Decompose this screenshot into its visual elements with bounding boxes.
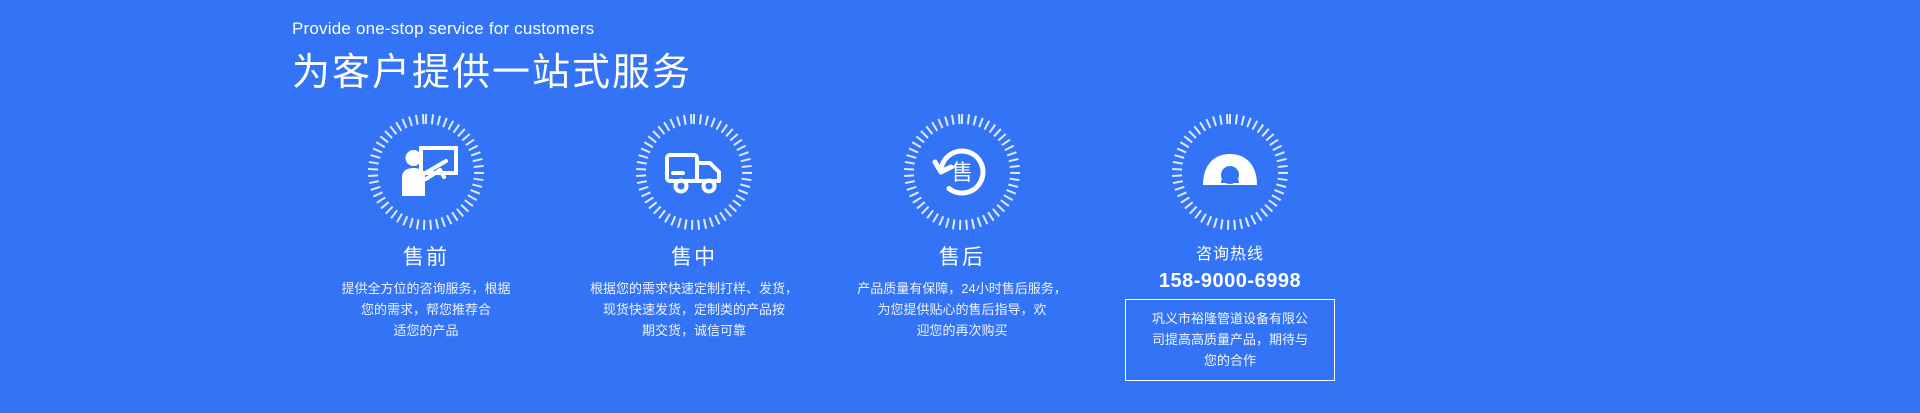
icon-container: 售 — [902, 112, 1022, 232]
column-title: 售中 — [671, 244, 717, 272]
hotline-label: 咨询热线 — [1196, 244, 1264, 266]
company-line: 您的合作 — [1140, 350, 1320, 371]
hotline-number[interactable]: 158-9000-6998 — [1159, 268, 1301, 294]
service-column-insale[interactable]: 售中 根据您的需求快速定制打样、发货， 现货快速发货，定制类的产品按 期交货，诚… — [560, 112, 828, 381]
service-column-hotline[interactable]: 咨询热线 158-9000-6998 巩义市裕隆管道设备有限公 司提高高质量产品… — [1096, 112, 1364, 381]
desc-line: 根据您的需求快速定制打样、发货， — [590, 278, 798, 299]
telephone-icon — [1197, 139, 1263, 205]
service-banner: Provide one-stop service for customers 为… — [0, 0, 1920, 413]
service-column-aftersale[interactable]: 售 售后 产品质量有保障，24小时售后服务， 为您提供贴心的售后指导，欢 迎您的… — [828, 112, 1096, 381]
desc-line: 适您的产品 — [341, 320, 510, 341]
heading-english: Provide one-stop service for customers — [292, 16, 1192, 42]
company-info-box: 巩义市裕隆管道设备有限公 司提高高质量产品，期待与 您的合作 — [1125, 299, 1335, 381]
desc-line: 迎您的再次购买 — [857, 320, 1066, 341]
service-columns: 售前 提供全方位的咨询服务，根据 您的需求，帮您推荐合 适您的产品 — [292, 112, 1632, 381]
presenter-whiteboard-icon — [393, 139, 459, 205]
desc-line: 产品质量有保障，24小时售后服务， — [857, 278, 1066, 299]
icon-container — [366, 112, 486, 232]
desc-line: 提供全方位的咨询服务，根据 — [341, 278, 510, 299]
banner-heading: Provide one-stop service for customers 为… — [292, 16, 1192, 98]
column-description: 提供全方位的咨询服务，根据 您的需求，帮您推荐合 适您的产品 — [341, 278, 510, 341]
desc-line: 现货快速发货，定制类的产品按 — [590, 299, 798, 320]
column-description: 产品质量有保障，24小时售后服务， 为您提供贴心的售后指导，欢 迎您的再次购买 — [857, 278, 1066, 341]
desc-line: 您的需求，帮您推荐合 — [341, 299, 510, 320]
icon-container — [634, 112, 754, 232]
column-title: 售前 — [403, 244, 449, 272]
heading-chinese: 为客户提供一站式服务 — [292, 48, 1192, 98]
after-sale-refresh-icon: 售 — [929, 139, 995, 205]
desc-line: 期交货，诚信可靠 — [590, 320, 798, 341]
company-line: 司提高高质量产品，期待与 — [1140, 329, 1320, 350]
column-description: 根据您的需求快速定制打样、发货， 现货快速发货，定制类的产品按 期交货，诚信可靠 — [590, 278, 798, 341]
delivery-truck-icon — [661, 139, 727, 205]
icon-container — [1170, 112, 1290, 232]
desc-line: 为您提供贴心的售后指导，欢 — [857, 299, 1066, 320]
company-line: 巩义市裕隆管道设备有限公 — [1140, 308, 1320, 329]
service-column-presale[interactable]: 售前 提供全方位的咨询服务，根据 您的需求，帮您推荐合 适您的产品 — [292, 112, 560, 381]
column-title: 售后 — [939, 244, 985, 272]
svg-text:售: 售 — [951, 160, 973, 185]
